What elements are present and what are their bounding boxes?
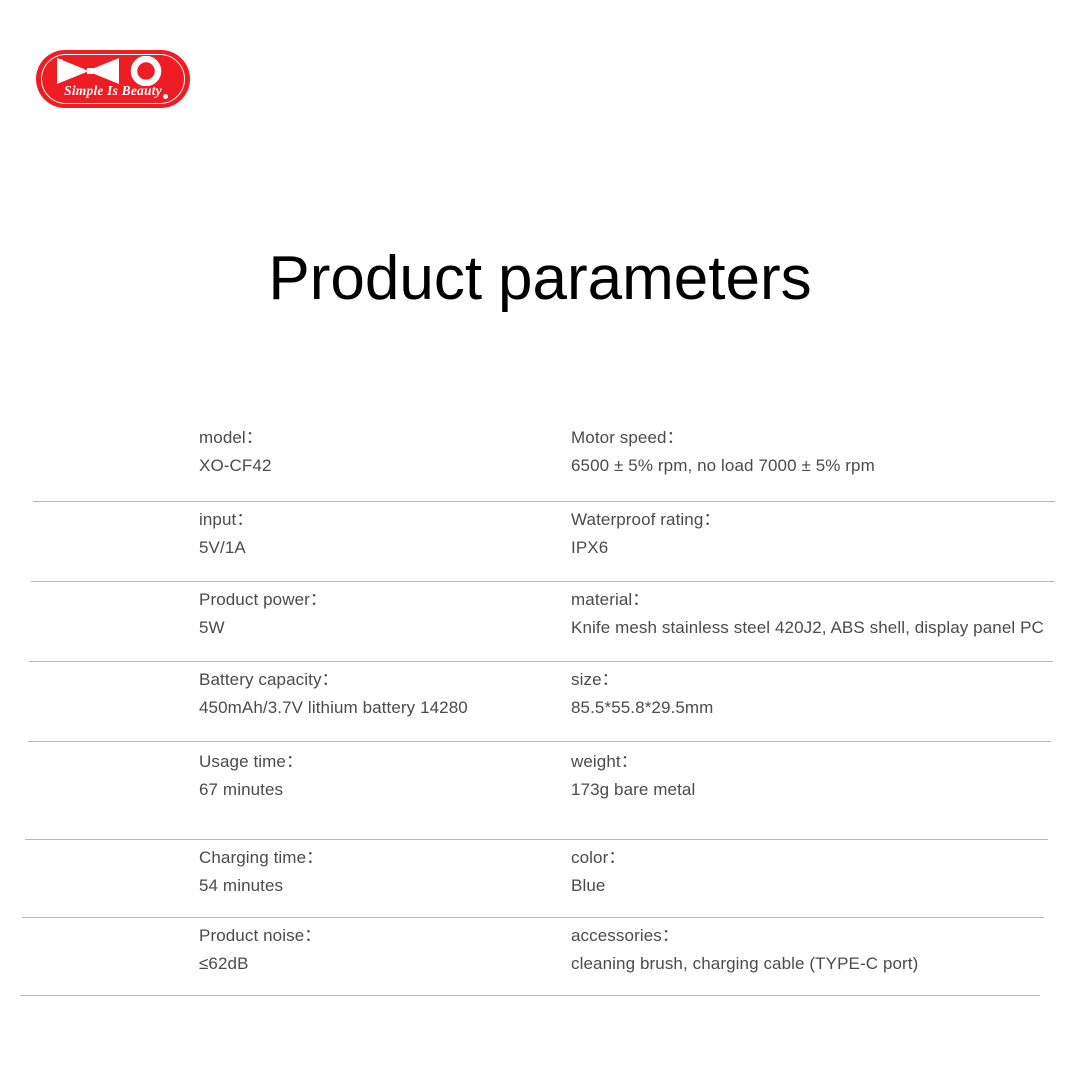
spec-cell-right: Waterproof rating： IPX6 bbox=[571, 506, 1080, 562]
spec-value: 5W bbox=[199, 614, 571, 642]
spec-label: Waterproof rating： bbox=[571, 506, 1080, 534]
spec-value: 6500 ± 5% rpm, no load 7000 ± 5% rpm bbox=[571, 452, 1080, 480]
spec-cell-left: Usage time： 67 minutes bbox=[199, 748, 571, 804]
spec-cell-right: size： 85.5*55.8*29.5mm bbox=[571, 666, 1080, 722]
product-parameters-table: model： XO-CF42 Motor speed： 6500 ± 5% rp… bbox=[0, 424, 1080, 996]
spec-label: weight： bbox=[571, 748, 1080, 776]
spec-label: model： bbox=[199, 424, 571, 452]
table-row: Battery capacity： 450mAh/3.7V lithium ba… bbox=[0, 662, 1080, 741]
spec-cell-left: Product noise： ≤62dB bbox=[199, 922, 571, 978]
spec-value: ≤62dB bbox=[199, 950, 571, 978]
spec-cell-left: Charging time： 54 minutes bbox=[199, 844, 571, 900]
page-title: Productparameters bbox=[0, 248, 1080, 310]
xo-logo: Simple Is Beauty bbox=[36, 50, 190, 108]
table-row: Product power： 5W material： Knife mesh s… bbox=[0, 582, 1080, 661]
spec-label: Product noise： bbox=[199, 922, 571, 950]
logo-monogram-xo-icon bbox=[36, 56, 190, 86]
spec-cell-right: Motor speed： 6500 ± 5% rpm, no load 7000… bbox=[571, 424, 1080, 480]
spec-label: Charging time： bbox=[199, 844, 571, 872]
table-row: model： XO-CF42 Motor speed： 6500 ± 5% rp… bbox=[0, 424, 1080, 501]
spec-cell-left: Battery capacity： 450mAh/3.7V lithium ba… bbox=[199, 666, 571, 722]
spec-label: Motor speed： bbox=[571, 424, 1080, 452]
spec-value: 67 minutes bbox=[199, 776, 571, 804]
spec-value: 5V/1A bbox=[199, 534, 571, 562]
table-row: input： 5V/1A Waterproof rating： IPX6 bbox=[0, 502, 1080, 581]
spec-label: size： bbox=[571, 666, 1080, 694]
spec-label: color： bbox=[571, 844, 1080, 872]
spec-label: input： bbox=[199, 506, 571, 534]
spec-value: XO-CF42 bbox=[199, 452, 571, 480]
logo-tagline: Simple Is Beauty bbox=[36, 83, 190, 99]
table-row: Usage time： 67 minutes weight： 173g bare… bbox=[0, 742, 1080, 839]
row-divider bbox=[20, 995, 1040, 996]
spec-value: Knife mesh stainless steel 420J2, ABS sh… bbox=[571, 614, 1080, 642]
spec-cell-left: input： 5V/1A bbox=[199, 506, 571, 562]
page-title-word-2: parameters bbox=[498, 244, 812, 313]
spec-label: accessories： bbox=[571, 922, 1080, 950]
spec-value: 54 minutes bbox=[199, 872, 571, 900]
spec-cell-right: accessories： cleaning brush, charging ca… bbox=[571, 922, 1080, 978]
spec-cell-left: model： XO-CF42 bbox=[199, 424, 571, 480]
spec-cell-right: color： Blue bbox=[571, 844, 1080, 900]
spec-value: IPX6 bbox=[571, 534, 1080, 562]
spec-cell-left: Product power： 5W bbox=[199, 586, 571, 642]
table-row: Charging time： 54 minutes color： Blue bbox=[0, 840, 1080, 917]
spec-cell-right: material： Knife mesh stainless steel 420… bbox=[571, 586, 1080, 642]
spec-label: Usage time： bbox=[199, 748, 571, 776]
spec-cell-right: weight： 173g bare metal bbox=[571, 748, 1080, 804]
spec-value: 450mAh/3.7V lithium battery 14280 bbox=[199, 694, 571, 722]
spec-value: 173g bare metal bbox=[571, 776, 1080, 804]
page-title-word-1: Product bbox=[268, 244, 482, 313]
spec-value: 85.5*55.8*29.5mm bbox=[571, 694, 1080, 722]
spec-label: Battery capacity： bbox=[199, 666, 571, 694]
spec-label: Product power： bbox=[199, 586, 571, 614]
spec-value: cleaning brush, charging cable (TYPE-C p… bbox=[571, 950, 1080, 978]
spec-label: material： bbox=[571, 586, 1080, 614]
table-row: Product noise： ≤62dB accessories： cleani… bbox=[0, 918, 1080, 995]
spec-value: Blue bbox=[571, 872, 1080, 900]
